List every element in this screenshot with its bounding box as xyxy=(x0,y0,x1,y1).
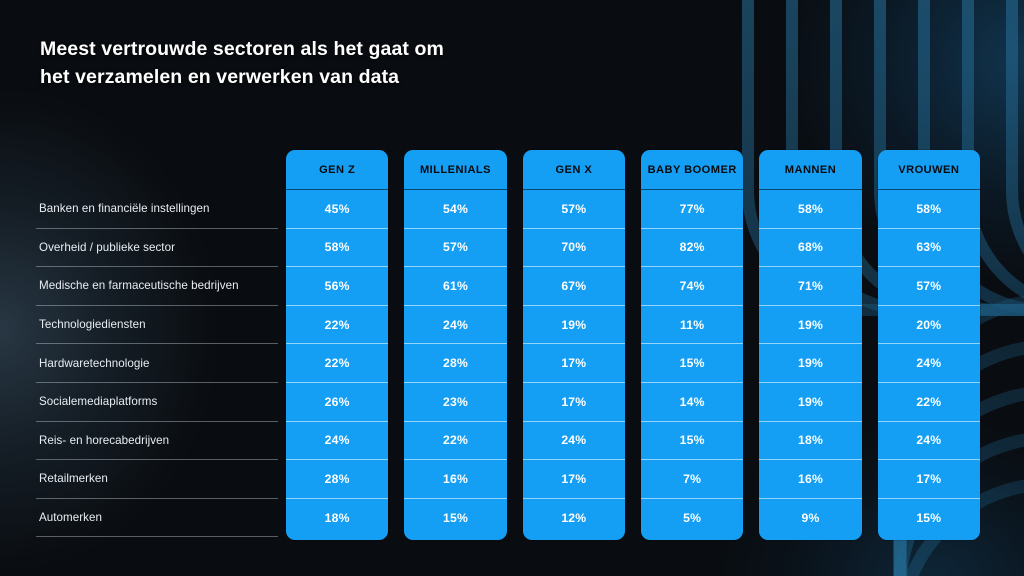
column-baby-boomer: BABY BOOMER 77% 82% 74% 11% 15% 14% 15% … xyxy=(641,150,743,540)
data-cell: 17% xyxy=(523,383,625,422)
data-cell: 56% xyxy=(286,267,388,306)
data-cell: 17% xyxy=(878,460,980,499)
data-cell: 24% xyxy=(404,306,506,345)
data-cell: 17% xyxy=(523,460,625,499)
row-label: Medische en farmaceutische bedrijven xyxy=(36,267,278,306)
data-cell: 7% xyxy=(641,460,743,499)
slide-content: Meest vertrouwde sectoren als het gaat o… xyxy=(0,0,1024,576)
data-cell: 63% xyxy=(878,229,980,268)
data-cell: 58% xyxy=(878,190,980,229)
column-header: MILLENIALS xyxy=(404,150,506,190)
data-cell: 57% xyxy=(404,229,506,268)
data-cell: 22% xyxy=(878,383,980,422)
data-cell: 68% xyxy=(759,229,861,268)
column-header: GEN X xyxy=(523,150,625,190)
data-cell: 82% xyxy=(641,229,743,268)
data-cell: 15% xyxy=(878,499,980,538)
data-cell: 24% xyxy=(878,344,980,383)
row-label: Retailmerken xyxy=(36,460,278,499)
data-cell: 26% xyxy=(286,383,388,422)
column-mannen: MANNEN 58% 68% 71% 19% 19% 19% 18% 16% 9… xyxy=(759,150,861,540)
data-cell: 57% xyxy=(878,267,980,306)
row-label: Hardwaretechnologie xyxy=(36,344,278,383)
data-cell: 71% xyxy=(759,267,861,306)
data-cell: 22% xyxy=(286,306,388,345)
row-label: Banken en financiële instellingen xyxy=(36,190,278,229)
page-title: Meest vertrouwde sectoren als het gaat o… xyxy=(40,36,460,91)
column-gen-x: GEN X 57% 70% 67% 19% 17% 17% 24% 17% 12… xyxy=(523,150,625,540)
data-cell: 9% xyxy=(759,499,861,538)
data-cell: 19% xyxy=(523,306,625,345)
data-cell: 74% xyxy=(641,267,743,306)
row-label: Technologiediensten xyxy=(36,306,278,345)
column-header: GEN Z xyxy=(286,150,388,190)
data-cell: 22% xyxy=(286,344,388,383)
row-label: Automerken xyxy=(36,499,278,538)
data-cell: 18% xyxy=(759,422,861,461)
data-cell: 28% xyxy=(404,344,506,383)
label-column-header-spacer xyxy=(36,150,278,190)
data-cell: 17% xyxy=(523,344,625,383)
row-label: Overheid / publieke sector xyxy=(36,229,278,268)
data-cell: 70% xyxy=(523,229,625,268)
column-header: BABY BOOMER xyxy=(641,150,743,190)
data-cell: 58% xyxy=(286,229,388,268)
data-cell: 20% xyxy=(878,306,980,345)
data-cell: 18% xyxy=(286,499,388,538)
data-cell: 15% xyxy=(641,422,743,461)
data-cell: 5% xyxy=(641,499,743,538)
data-cell: 57% xyxy=(523,190,625,229)
data-cell: 15% xyxy=(641,344,743,383)
data-cell: 16% xyxy=(759,460,861,499)
data-cell: 67% xyxy=(523,267,625,306)
column-gen-z: GEN Z 45% 58% 56% 22% 22% 26% 24% 28% 18… xyxy=(286,150,388,540)
row-label: Reis- en horecabedrijven xyxy=(36,422,278,461)
column-header: MANNEN xyxy=(759,150,861,190)
data-cell: 54% xyxy=(404,190,506,229)
comparison-table: Banken en financiële instellingen Overhe… xyxy=(36,150,988,540)
data-cell: 22% xyxy=(404,422,506,461)
data-cell: 11% xyxy=(641,306,743,345)
data-cell: 24% xyxy=(523,422,625,461)
data-cell: 16% xyxy=(404,460,506,499)
data-cell: 12% xyxy=(523,499,625,538)
data-cell: 24% xyxy=(286,422,388,461)
data-cell: 45% xyxy=(286,190,388,229)
data-cell: 58% xyxy=(759,190,861,229)
data-cell: 15% xyxy=(404,499,506,538)
data-cell: 24% xyxy=(878,422,980,461)
column-vrouwen: VROUWEN 58% 63% 57% 20% 24% 22% 24% 17% … xyxy=(878,150,980,540)
data-cell: 19% xyxy=(759,306,861,345)
data-cell: 14% xyxy=(641,383,743,422)
data-cell: 23% xyxy=(404,383,506,422)
column-millenials: MILLENIALS 54% 57% 61% 24% 28% 23% 22% 1… xyxy=(404,150,506,540)
data-cell: 19% xyxy=(759,344,861,383)
column-header: VROUWEN xyxy=(878,150,980,190)
row-label: Socialemediaplatforms xyxy=(36,383,278,422)
data-cell: 19% xyxy=(759,383,861,422)
data-cell: 77% xyxy=(641,190,743,229)
data-cell: 28% xyxy=(286,460,388,499)
data-cell: 61% xyxy=(404,267,506,306)
row-label-column: Banken en financiële instellingen Overhe… xyxy=(36,150,278,540)
